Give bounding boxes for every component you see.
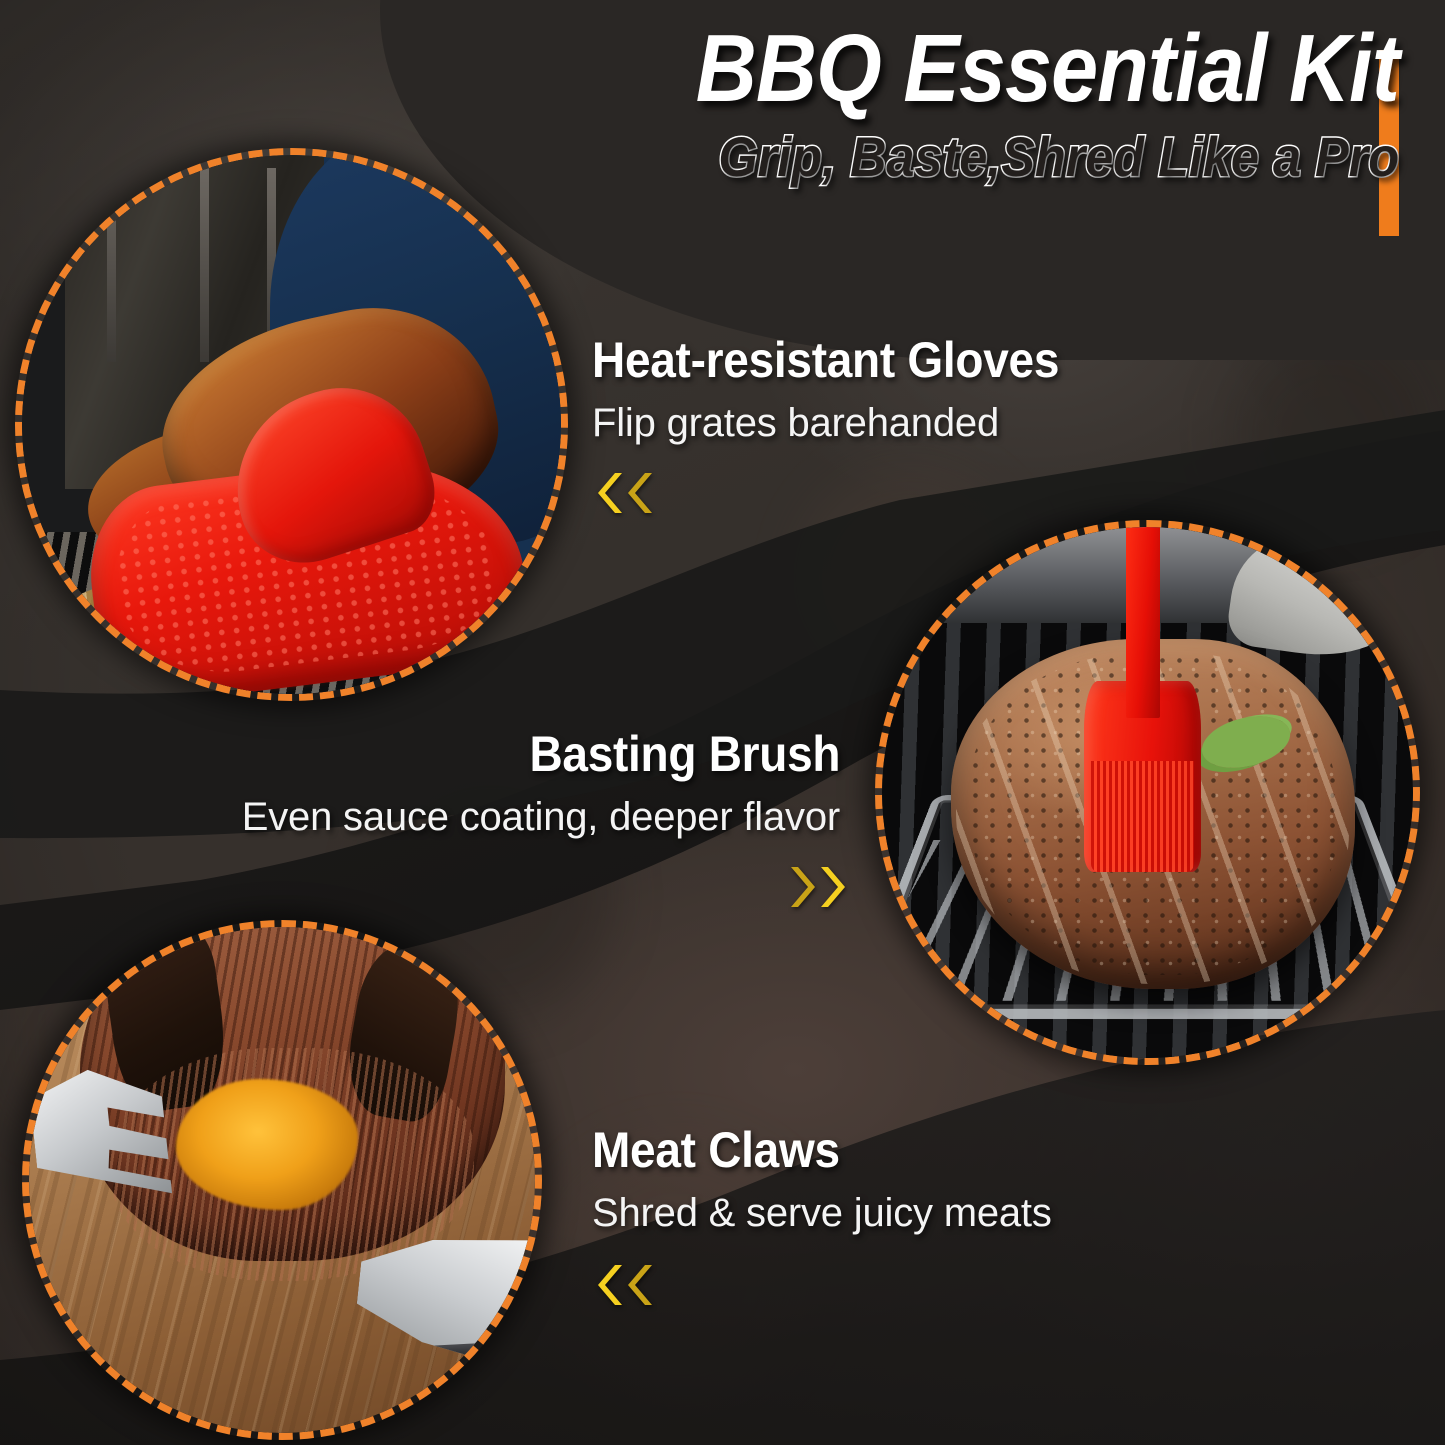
feature-subtitle-gloves: Flip grates barehanded bbox=[592, 401, 1100, 445]
feature-subtitle-claws: Shred & serve juicy meats bbox=[592, 1191, 1052, 1235]
photo-inner-claws: Wallos bbox=[29, 927, 535, 1433]
page-subtitle: Grip, Baste,Shred Like a Pro bbox=[607, 128, 1399, 187]
photo-basting-brush bbox=[875, 520, 1420, 1065]
header: BBQ Essential Kit Grip, Baste,Shred Like… bbox=[519, 20, 1399, 187]
photo-inner-gloves bbox=[22, 155, 561, 694]
photo-heat-resistant-gloves bbox=[15, 148, 568, 701]
chevron-left-icon-gloves bbox=[598, 472, 654, 514]
feature-subtitle-brush: Even sauce coating, deeper flavor bbox=[242, 795, 840, 839]
chevron-left-icon-claws bbox=[598, 1264, 654, 1306]
grill-bar bbox=[200, 168, 209, 362]
photo-inner-brush bbox=[882, 527, 1413, 1058]
basting-brush-handle bbox=[1126, 527, 1160, 718]
page-title: BBQ Essential Kit bbox=[625, 20, 1399, 118]
feature-title-brush: Basting Brush bbox=[290, 728, 840, 781]
feature-title-claws: Meat Claws bbox=[592, 1124, 1015, 1177]
photo-meat-claws: Wallos bbox=[22, 920, 542, 1440]
photo-scene-brush bbox=[882, 527, 1413, 1058]
feature-block-gloves: Heat-resistant Gloves Flip grates bareha… bbox=[592, 334, 1100, 445]
infographic-canvas: BBQ Essential Kit Grip, Baste,Shred Like… bbox=[0, 0, 1445, 1445]
feature-block-claws: Meat Claws Shred & serve juicy meats bbox=[592, 1124, 1052, 1235]
feature-title-gloves: Heat-resistant Gloves bbox=[592, 334, 1059, 387]
grill-bar bbox=[107, 168, 116, 362]
photo-scene-claws: Wallos bbox=[29, 927, 535, 1433]
feature-block-brush: Basting Brush Even sauce coating, deeper… bbox=[242, 728, 840, 839]
chevron-right-icon-brush bbox=[789, 866, 845, 908]
photo-scene-gloves bbox=[22, 155, 561, 694]
